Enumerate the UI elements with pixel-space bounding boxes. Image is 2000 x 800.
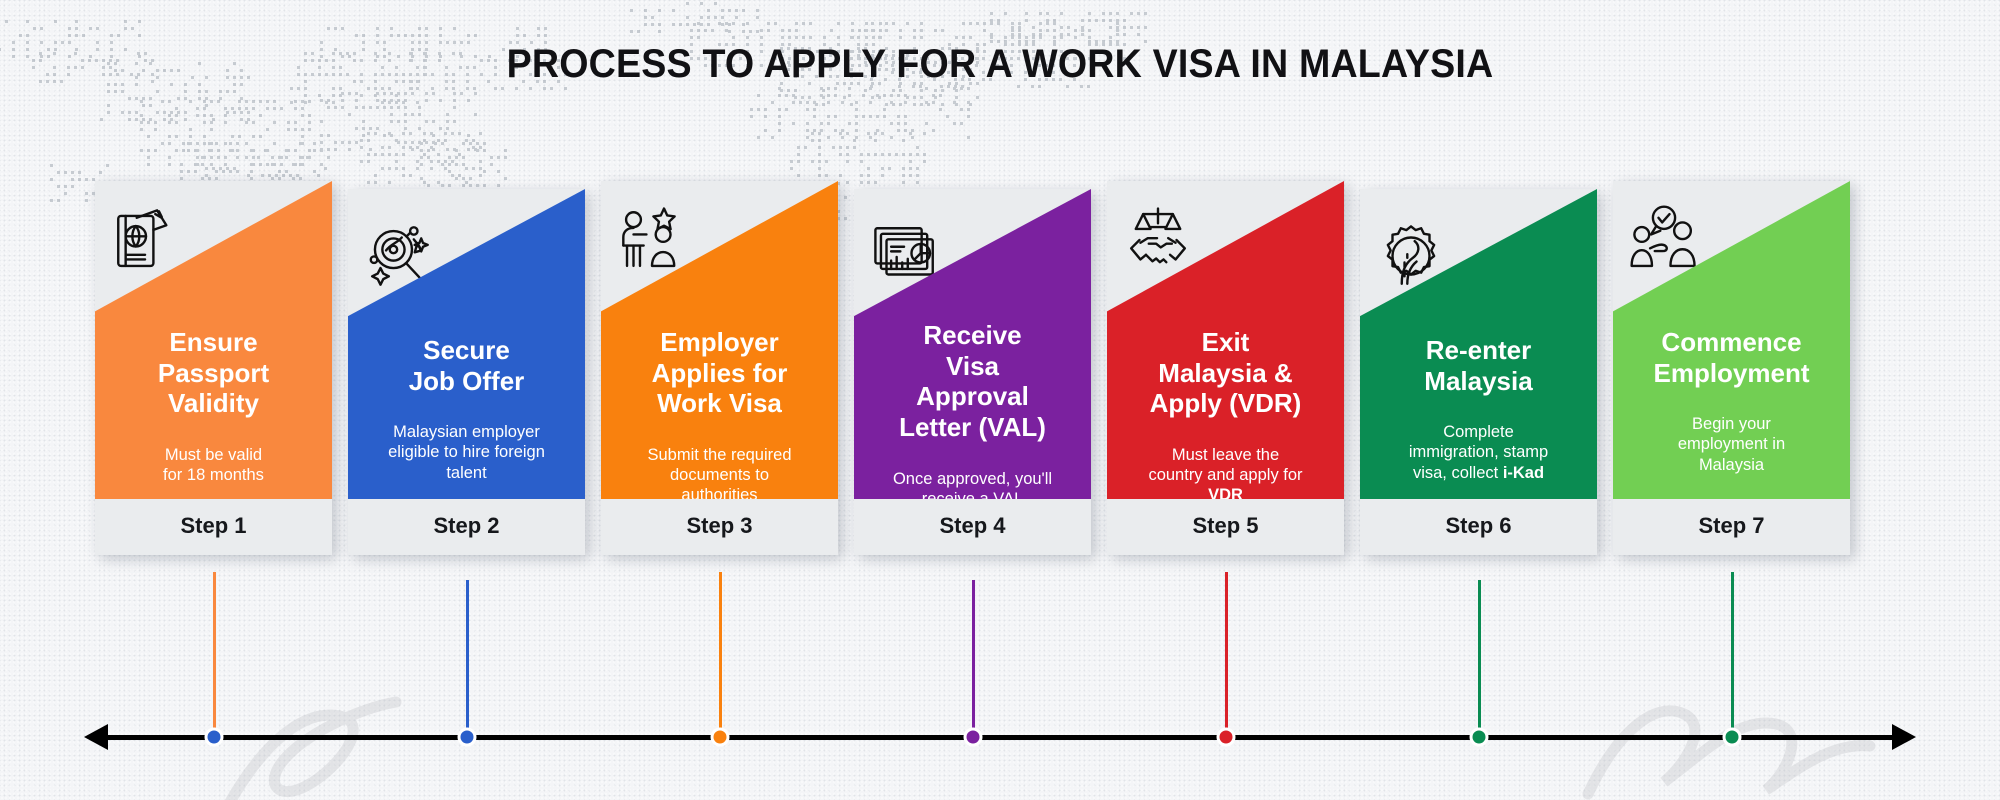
card-panel: Employer Applies for Work VisaSubmit the… xyxy=(601,181,838,499)
hire-person-star-icon xyxy=(615,203,689,277)
step-card-4[interactable]: Receive Visa Approval Letter (VAL)Once a… xyxy=(854,189,1091,555)
step-card-6[interactable]: Re-enter MalaysiaCompleteimmigration, st… xyxy=(1360,189,1597,555)
card-step-label: Step 4 xyxy=(854,499,1091,555)
infographic-canvas: PROCESS TO APPLY FOR A WORK VISA IN MALA… xyxy=(0,0,2000,800)
card-panel: Exit Malaysia & Apply (VDR)Must leave th… xyxy=(1107,181,1344,499)
card-step-label: Step 5 xyxy=(1107,499,1344,555)
step-card-3[interactable]: Employer Applies for Work VisaSubmit the… xyxy=(601,181,838,555)
card-panel: Secure Job OfferMalaysian employer eligi… xyxy=(348,189,585,499)
card-step-label: Step 2 xyxy=(348,499,585,555)
card-step-label: Step 7 xyxy=(1613,499,1850,555)
card-description: Malaysian employer eligible to hire fore… xyxy=(348,396,585,482)
people-approved-icon xyxy=(1627,203,1701,277)
card-step-label: Step 1 xyxy=(95,499,332,555)
step-card-2[interactable]: Secure Job OfferMalaysian employer eligi… xyxy=(348,189,585,555)
card-description: Completeimmigration, stampvisa, collect … xyxy=(1360,396,1597,482)
handshake-scales-icon xyxy=(1121,203,1195,277)
card-description: Begin your employment in Malaysia xyxy=(1613,388,1850,474)
card-panel: Receive Visa Approval Letter (VAL)Once a… xyxy=(854,189,1091,499)
card-description: Submit the required documents to authori… xyxy=(601,419,838,505)
step-card-7[interactable]: Commence EmploymentBegin your employment… xyxy=(1613,181,1850,555)
step-card-5[interactable]: Exit Malaysia & Apply (VDR)Must leave th… xyxy=(1107,181,1344,555)
card-panel: Commence EmploymentBegin your employment… xyxy=(1613,181,1850,499)
card-description: Must be valid for 18 months xyxy=(95,419,332,485)
card-panel: Ensure Passport ValidityMust be valid fo… xyxy=(95,181,332,499)
card-step-label: Step 3 xyxy=(601,499,838,555)
passport-icon xyxy=(109,203,183,277)
steps-row: Ensure Passport ValidityMust be valid fo… xyxy=(0,0,2000,800)
card-description: Must leave thecountry and apply forVDR xyxy=(1107,419,1344,505)
card-step-label: Step 6 xyxy=(1360,499,1597,555)
card-panel: Re-enter MalaysiaCompleteimmigration, st… xyxy=(1360,189,1597,499)
step-card-1[interactable]: Ensure Passport ValidityMust be valid fo… xyxy=(95,181,332,555)
